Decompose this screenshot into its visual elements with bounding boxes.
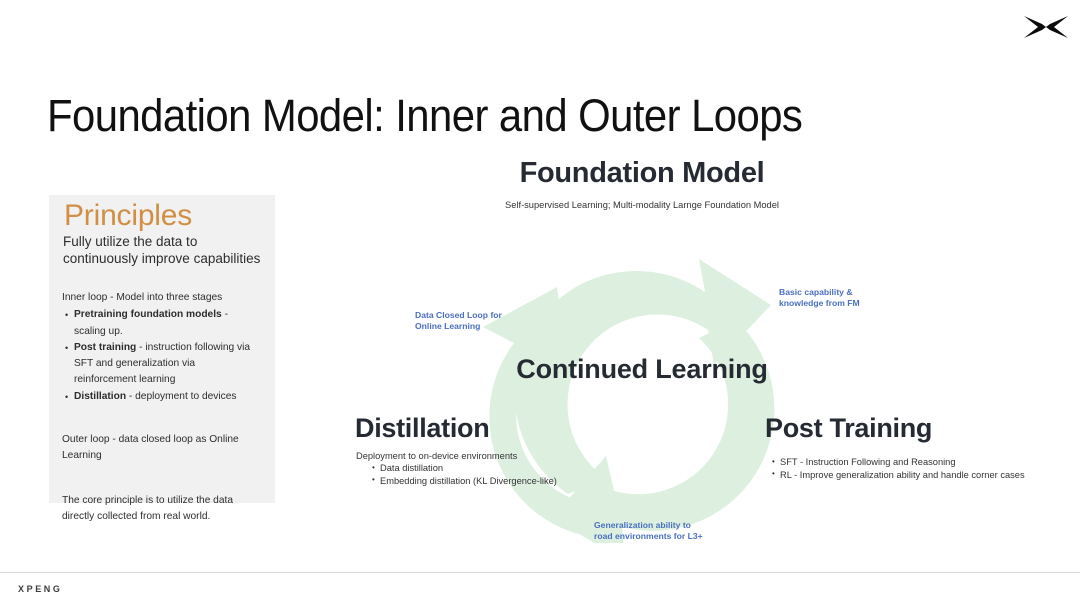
list-item: Post training - instruction following vi…	[74, 340, 258, 389]
list-item-bold: Distillation	[74, 391, 126, 402]
principles-outer-loop: Outer loop - data closed loop as Online …	[62, 432, 258, 465]
post-training-bullet-list: SFT - Instruction Following and Reasonin…	[772, 456, 1025, 481]
principles-heading: Principles	[64, 199, 192, 233]
foundation-model-title: Foundation Model	[452, 156, 832, 190]
list-item: Distillation - deployment to devices	[74, 389, 258, 405]
list-item: Pretraining foundation models - scaling …	[74, 307, 258, 340]
principles-core-principle: The core principle is to utilize the dat…	[62, 493, 254, 526]
footer-divider	[0, 572, 1080, 573]
footer-wordmark: XPENG	[18, 584, 63, 594]
inner-loop-list: Pretraining foundation models - scaling …	[62, 307, 258, 405]
continued-learning-label: Continued Learning	[452, 352, 832, 386]
list-item: Data distillation	[372, 462, 557, 475]
page-title: Foundation Model: Inner and Outer Loops	[47, 88, 802, 144]
principles-subheading: Fully utilize the data to continuously i…	[63, 234, 263, 267]
list-item: SFT - Instruction Following and Reasonin…	[772, 456, 1025, 469]
post-training-title: Post Training	[765, 411, 932, 445]
annotation-data-closed-loop: Data Closed Loop for Online Learning	[415, 310, 525, 333]
list-item-bold: Post training	[74, 342, 136, 353]
distillation-title: Distillation	[355, 411, 489, 445]
principles-inner-loop-block: Inner loop - Model into three stages Pre…	[62, 290, 258, 405]
distillation-lead: Deployment to on-device environments	[356, 450, 517, 463]
annotation-basic-capability: Basic capability & knowledge from FM	[779, 287, 889, 310]
list-item-rest: - deployment to devices	[126, 391, 236, 402]
xpeng-x-logo-icon	[1024, 16, 1068, 38]
cycle-arrows	[483, 259, 774, 543]
annotation-generalization: Generalization ability to road environme…	[594, 520, 704, 543]
distillation-bullet-list: Data distillation Embedding distillation…	[372, 462, 557, 487]
list-item-bold: Pretraining foundation models	[74, 309, 222, 320]
list-item: RL - Improve generalization ability and …	[772, 469, 1025, 482]
foundation-model-subtitle: Self-supervised Learning; Multi-modality…	[452, 199, 832, 212]
list-item: Embedding distillation (KL Divergence-li…	[372, 475, 557, 488]
inner-loop-lead: Inner loop - Model into three stages	[62, 290, 258, 306]
